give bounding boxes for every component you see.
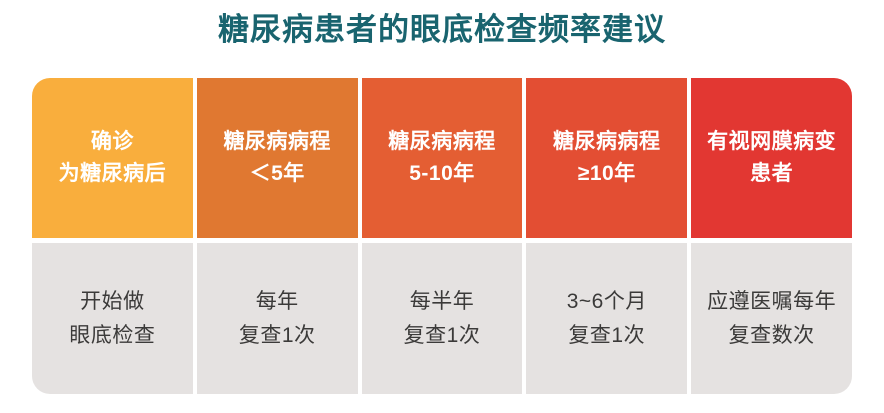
page-title: 糖尿病患者的眼底检查频率建议 bbox=[0, 8, 884, 52]
body-cell-stage-1: 开始做 眼底检查 bbox=[32, 243, 193, 394]
body-line-2: 复查1次 bbox=[239, 319, 316, 353]
header-line-2: ≥10年 bbox=[578, 158, 636, 190]
header-cell-stage-4: 糖尿病病程 ≥10年 bbox=[526, 78, 687, 238]
body-cell-stage-4: 3~6个月 复查1次 bbox=[526, 243, 687, 394]
header-line-1: 糖尿病病程 bbox=[553, 126, 661, 158]
body-line-1: 每半年 bbox=[410, 285, 475, 319]
table-header-row: 确诊 为糖尿病后 糖尿病病程 ＜5年 糖尿病病程 5-10年 糖尿病病程 ≥10… bbox=[32, 78, 852, 238]
header-cell-stage-1: 确诊 为糖尿病后 bbox=[32, 78, 193, 238]
header-line-1: 糖尿病病程 bbox=[223, 126, 331, 158]
body-line-1: 应遵医嘱每年 bbox=[707, 285, 836, 319]
body-line-2: 眼底检查 bbox=[69, 319, 155, 353]
body-cell-stage-5: 应遵医嘱每年 复查数次 bbox=[691, 243, 852, 394]
body-line-1: 每年 bbox=[256, 285, 299, 319]
body-line-2: 复查数次 bbox=[729, 319, 815, 353]
header-line-1: 确诊 bbox=[91, 126, 134, 158]
header-cell-stage-5: 有视网膜病变 患者 bbox=[691, 78, 852, 238]
header-line-1: 糖尿病病程 bbox=[388, 126, 496, 158]
recommendation-table: 确诊 为糖尿病后 糖尿病病程 ＜5年 糖尿病病程 5-10年 糖尿病病程 ≥10… bbox=[32, 78, 852, 394]
body-line-1: 3~6个月 bbox=[567, 285, 647, 319]
body-line-1: 开始做 bbox=[80, 285, 145, 319]
header-line-1: 有视网膜病变 bbox=[707, 126, 836, 158]
header-cell-stage-2: 糖尿病病程 ＜5年 bbox=[197, 78, 358, 238]
body-line-2: 复查1次 bbox=[568, 319, 645, 353]
body-cell-stage-2: 每年 复查1次 bbox=[197, 243, 358, 394]
infographic-page: 糖尿病患者的眼底检查频率建议 确诊 为糖尿病后 糖尿病病程 ＜5年 糖尿病病程 … bbox=[0, 0, 884, 413]
body-cell-stage-3: 每半年 复查1次 bbox=[362, 243, 523, 394]
header-line-2: 为糖尿病后 bbox=[59, 158, 167, 190]
header-line-2: 患者 bbox=[750, 158, 793, 190]
header-cell-stage-3: 糖尿病病程 5-10年 bbox=[362, 78, 523, 238]
header-line-2: ＜5年 bbox=[250, 158, 305, 190]
header-line-2: 5-10年 bbox=[409, 158, 475, 190]
body-line-2: 复查1次 bbox=[404, 319, 481, 353]
table-body-row: 开始做 眼底检查 每年 复查1次 每半年 复查1次 3~6个月 复查1次 应遵医… bbox=[32, 243, 852, 394]
